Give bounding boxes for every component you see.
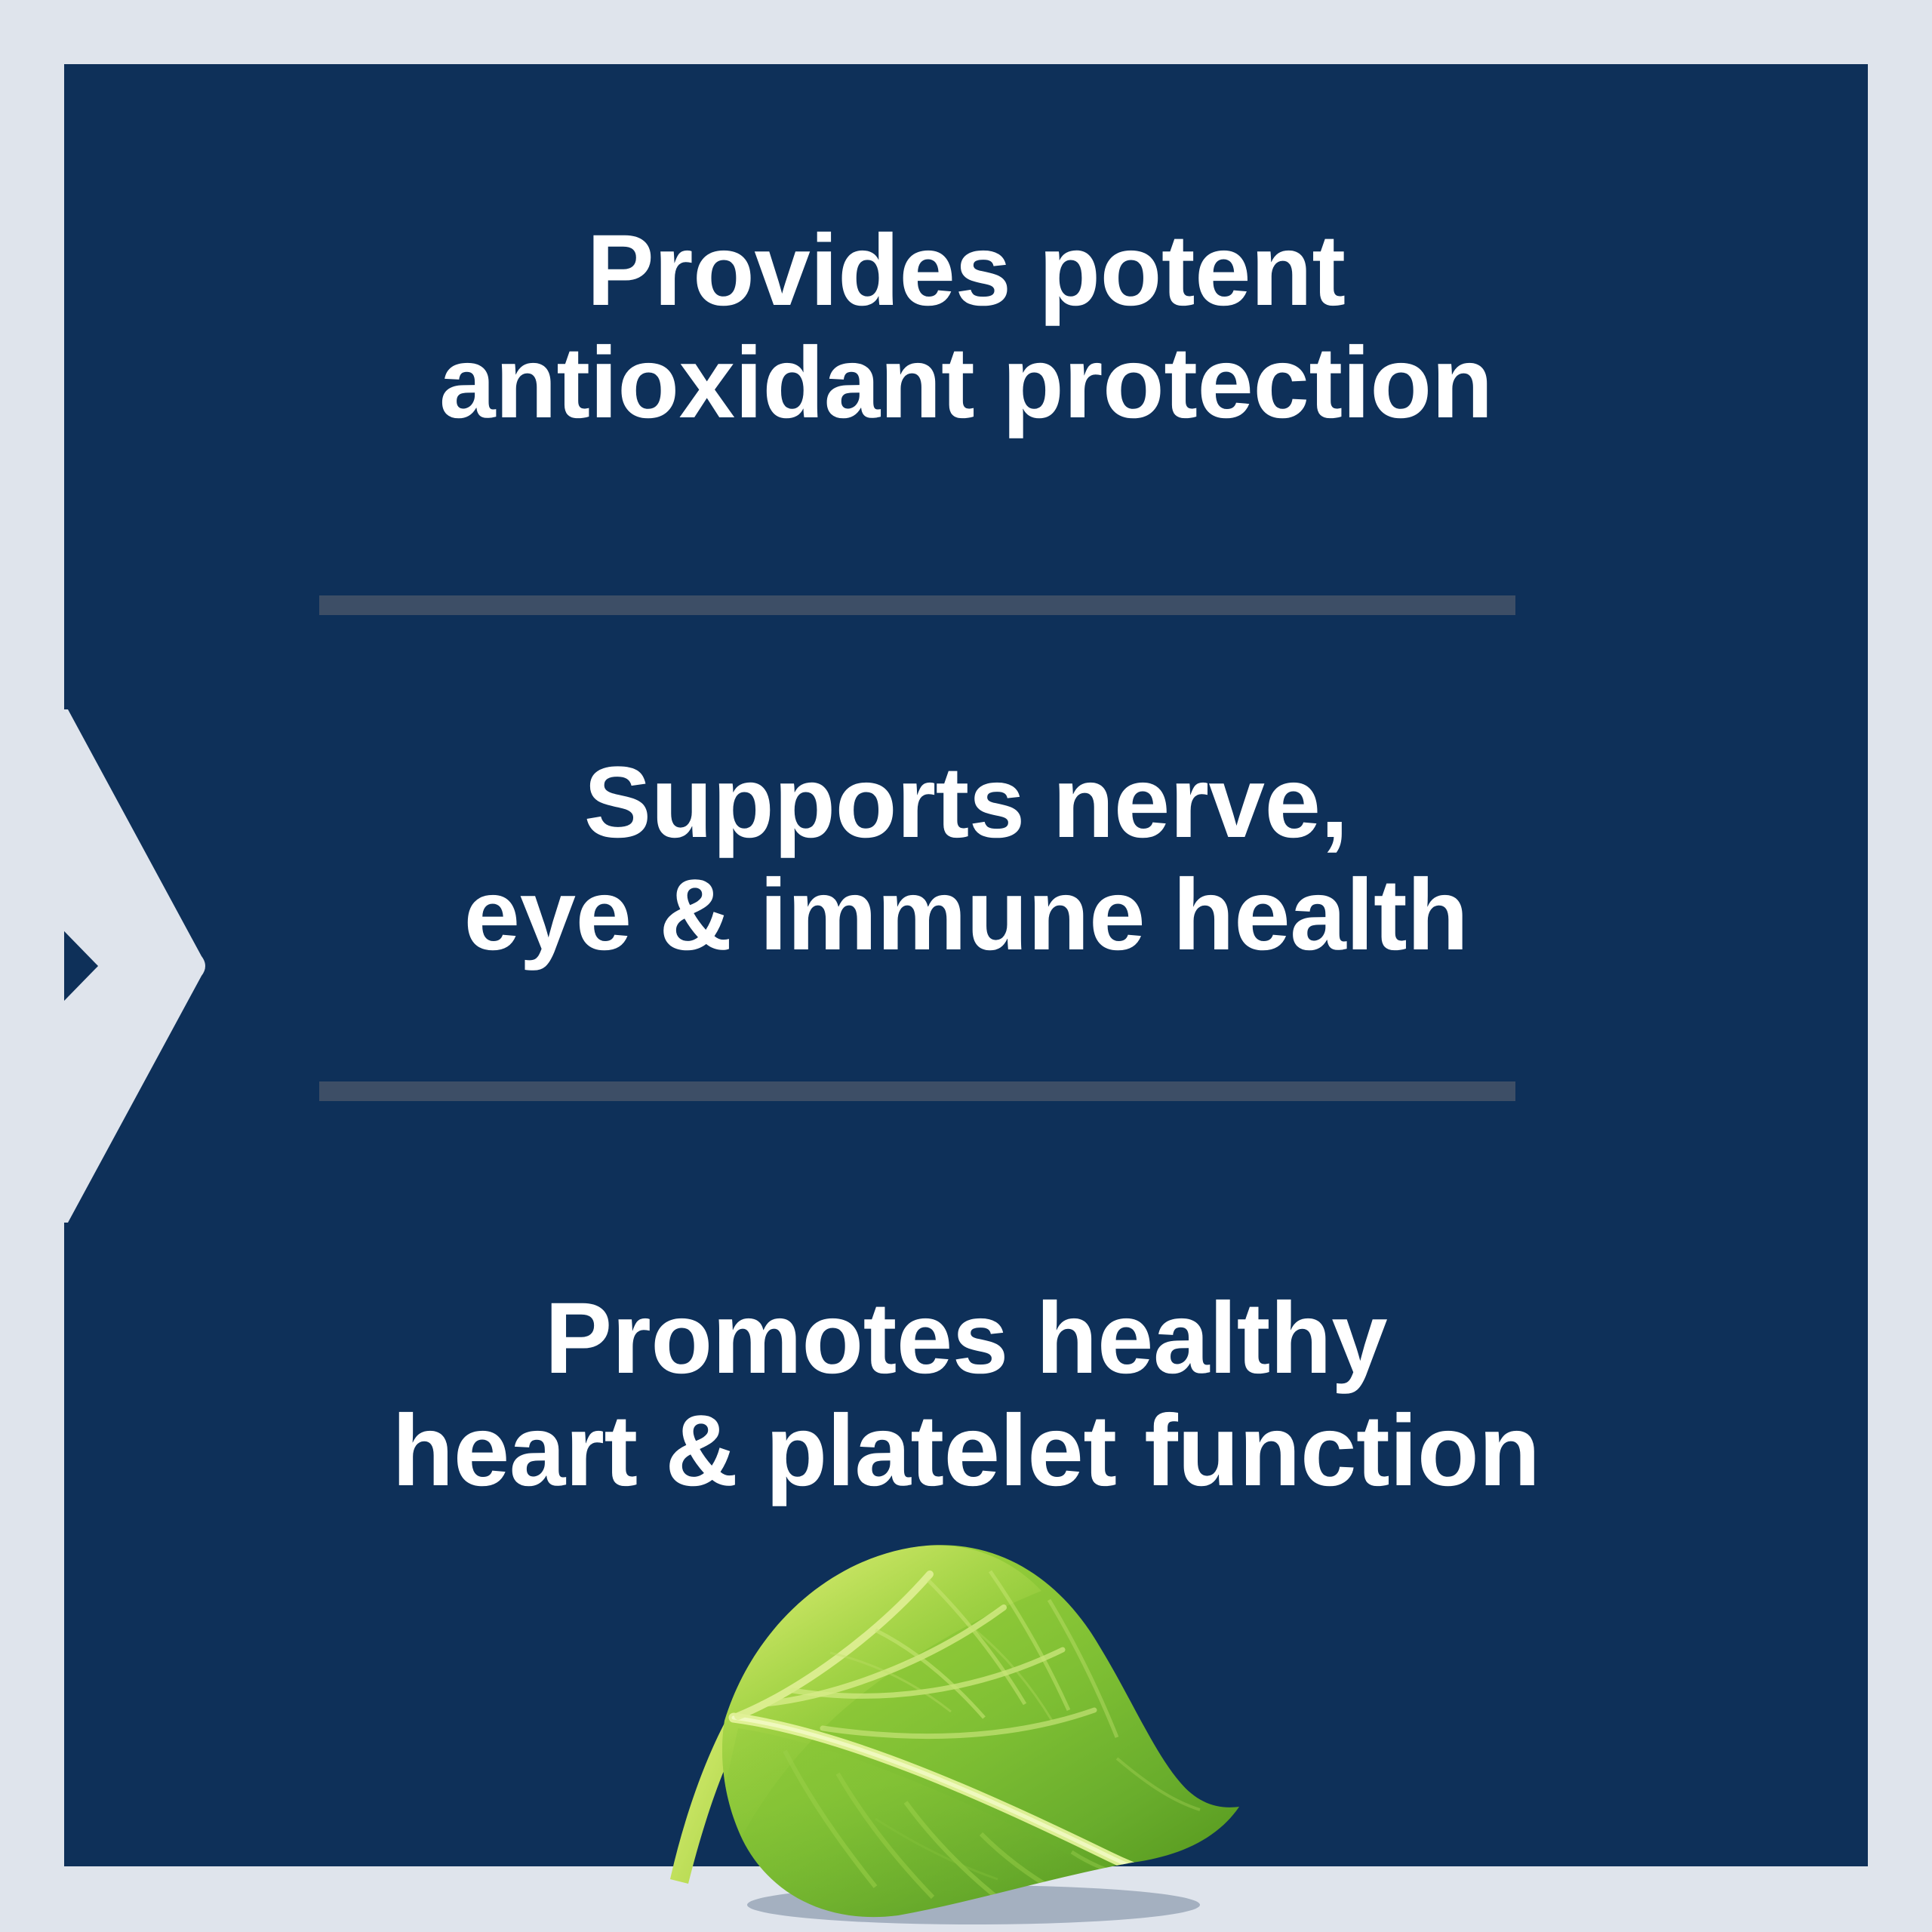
benefit-line-1: Provides potent [94,215,1838,328]
benefit-item-nerve-eye-immune-health: Supports nerve, eye & immune health [64,747,1868,971]
benefit-line-1: Promotes healthy [94,1283,1838,1395]
benefit-line-1: Supports nerve, [94,747,1838,860]
benefit-line-2: heart & platelet function [94,1395,1838,1508]
benefit-line-2: antioxidant protection [94,328,1838,440]
benefit-line-2: eye & immune health [94,860,1838,972]
benefit-item-heart-platelet-function: Promotes healthy heart & platelet functi… [64,1283,1868,1507]
benefit-item-antioxidant-protection: Provides potent antioxidant protection [64,215,1868,439]
benefit-list: Provides potent antioxidant protection S… [64,64,1868,1866]
benefits-card: Provides potent antioxidant protection S… [0,0,1932,1932]
